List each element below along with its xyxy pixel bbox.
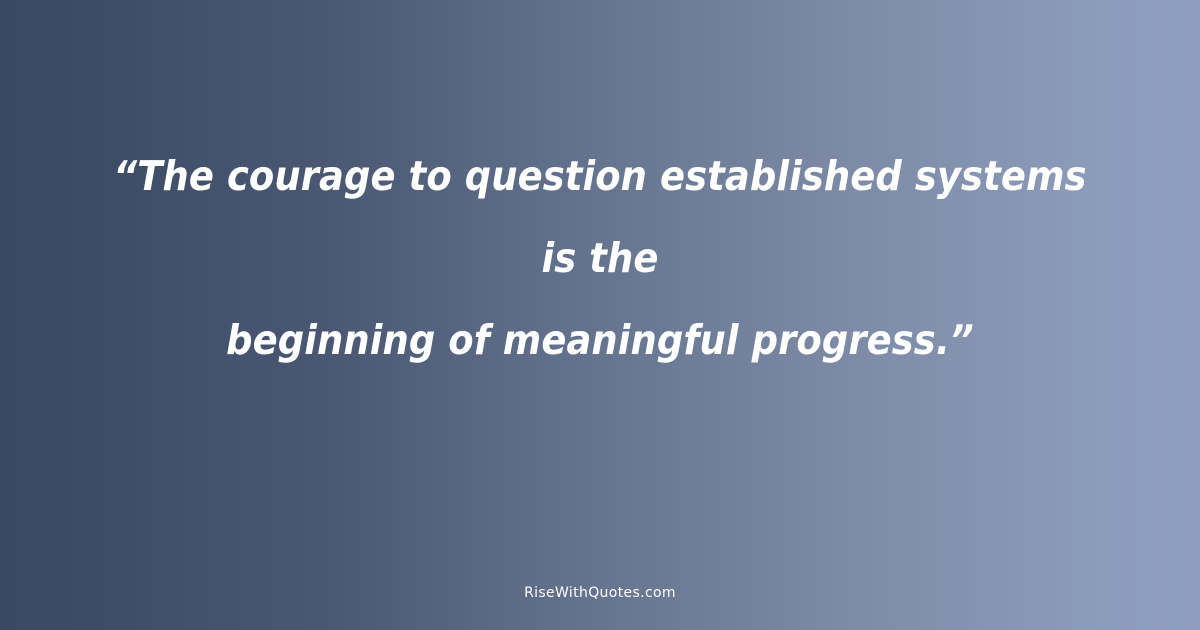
quote-text: “The courage to question established sys… <box>100 135 1100 381</box>
attribution-area: RiseWithQuotes.com <box>0 582 1200 602</box>
quote-card: “The courage to question established sys… <box>0 0 1200 630</box>
attribution-source: RiseWithQuotes.com <box>524 584 676 602</box>
quote-block: “The courage to question established sys… <box>100 135 1100 381</box>
